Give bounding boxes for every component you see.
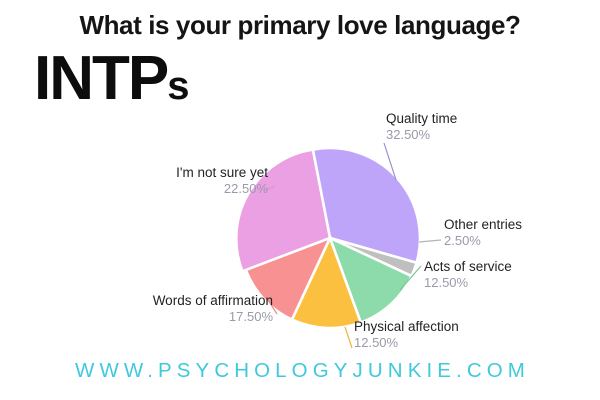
slice-label-physical-affection: Physical affection 12.50% (354, 319, 459, 351)
slice-label-percent: 2.50% (444, 233, 522, 249)
slice-label-name: Quality time (386, 111, 457, 127)
slice-label-words-of-affirmation: Words of affirmation 17.50% (115, 293, 273, 325)
slice-label-percent: 32.50% (386, 127, 457, 143)
infographic-canvas: What is your primary love language? INTP… (0, 0, 600, 400)
slice-label-name: Words of affirmation (115, 293, 273, 309)
slice-label-percent: 12.50% (424, 275, 512, 291)
leader-line-physical-affection (345, 327, 352, 348)
slice-label-name: I'm not sure yet (113, 165, 268, 181)
website-url: WWW.PSYCHOLOGYJUNKIE.COM (0, 359, 600, 383)
slice-label-percent: 22.50% (113, 181, 268, 197)
slice-label-name: Other entries (444, 217, 522, 233)
slice-label-name: Physical affection (354, 319, 459, 335)
pie-chart (0, 0, 600, 400)
slice-label-quality-time: Quality time 32.50% (386, 111, 457, 143)
slice-label-percent: 12.50% (354, 335, 459, 351)
leader-line-other-entries (419, 240, 441, 242)
slice-label-percent: 17.50% (115, 309, 273, 325)
slice-label-other-entries: Other entries 2.50% (444, 217, 522, 249)
slice-label-name: Acts of service (424, 259, 512, 275)
slice-label-acts-of-service: Acts of service 12.50% (424, 259, 512, 291)
slice-label-im-not-sure-yet: I'm not sure yet 22.50% (113, 165, 268, 197)
